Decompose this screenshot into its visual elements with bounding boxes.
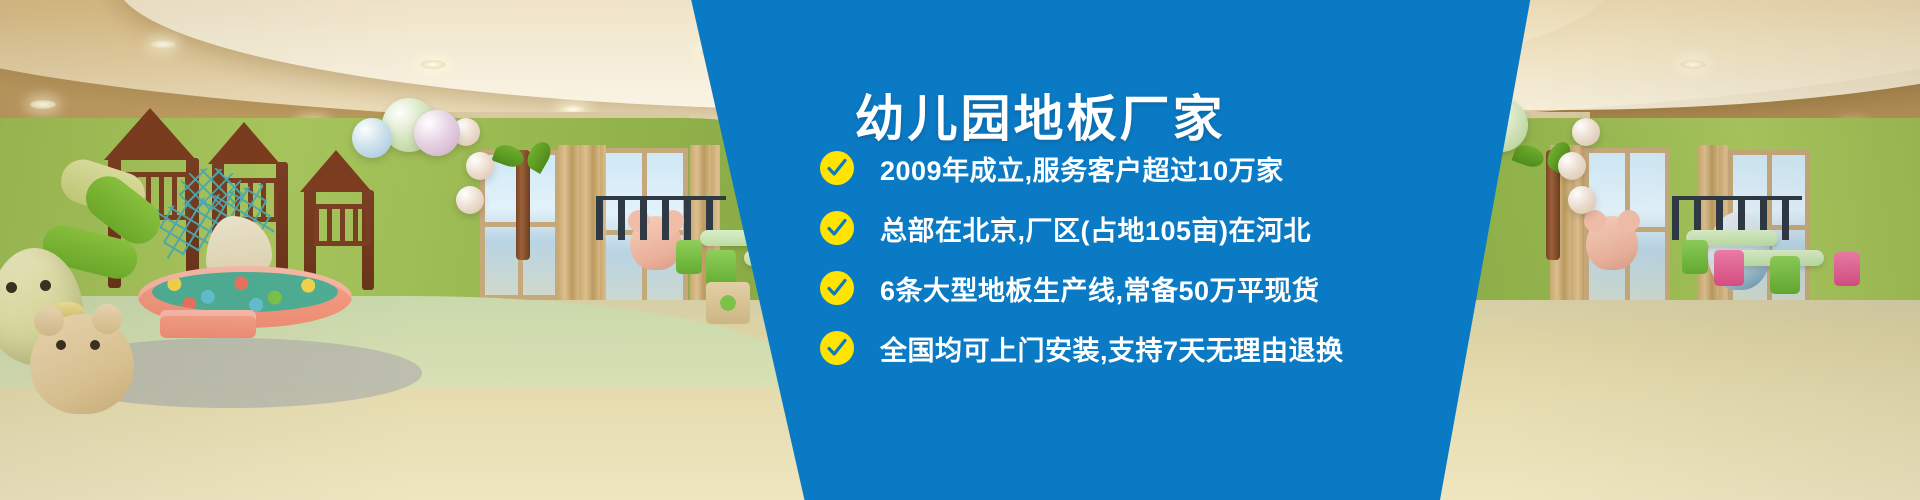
teddy-ear <box>1618 210 1640 232</box>
downlight <box>30 100 56 109</box>
bear-ear <box>34 306 64 336</box>
teddy-ear <box>1584 210 1606 232</box>
teddy-bear-right <box>1586 216 1638 270</box>
wall-flower-ball <box>466 152 494 180</box>
ball-pit-balls <box>152 272 338 312</box>
clover-icon <box>716 291 741 315</box>
wall-balloon <box>352 118 392 158</box>
wall-balloon <box>414 110 460 156</box>
bear-eye <box>90 340 100 350</box>
downlight <box>150 40 176 49</box>
kids-chair <box>1834 252 1860 286</box>
kids-chair <box>1682 240 1708 274</box>
tower-roof <box>104 108 196 160</box>
downlight <box>1680 60 1706 69</box>
play-cube <box>706 282 750 324</box>
kids-chair <box>676 240 702 274</box>
tower-roof <box>300 150 372 192</box>
bear-eye <box>56 340 66 350</box>
wall-flower-ball <box>1558 152 1586 180</box>
bear-ear <box>92 304 122 334</box>
bear-mascot <box>30 314 134 414</box>
wall-flower-ball <box>1568 186 1596 214</box>
duck-eye <box>40 280 51 291</box>
duck-eye <box>6 282 17 293</box>
ball-pit-steps <box>160 310 256 338</box>
wall-flower-ball <box>456 186 484 214</box>
promo-banner: 幼儿园地板厂家 2009年成立,服务客户超过10万家 总部在北京,厂区(占地10… <box>0 0 1920 500</box>
kids-chair <box>1770 256 1800 294</box>
wall-flower-ball <box>1572 118 1600 146</box>
kids-chair <box>1714 250 1744 286</box>
downlight <box>420 60 446 69</box>
climbing-tunnel <box>178 168 244 210</box>
tower-railing <box>314 204 370 246</box>
tower-roof <box>208 122 280 164</box>
kids-chair <box>706 250 736 286</box>
